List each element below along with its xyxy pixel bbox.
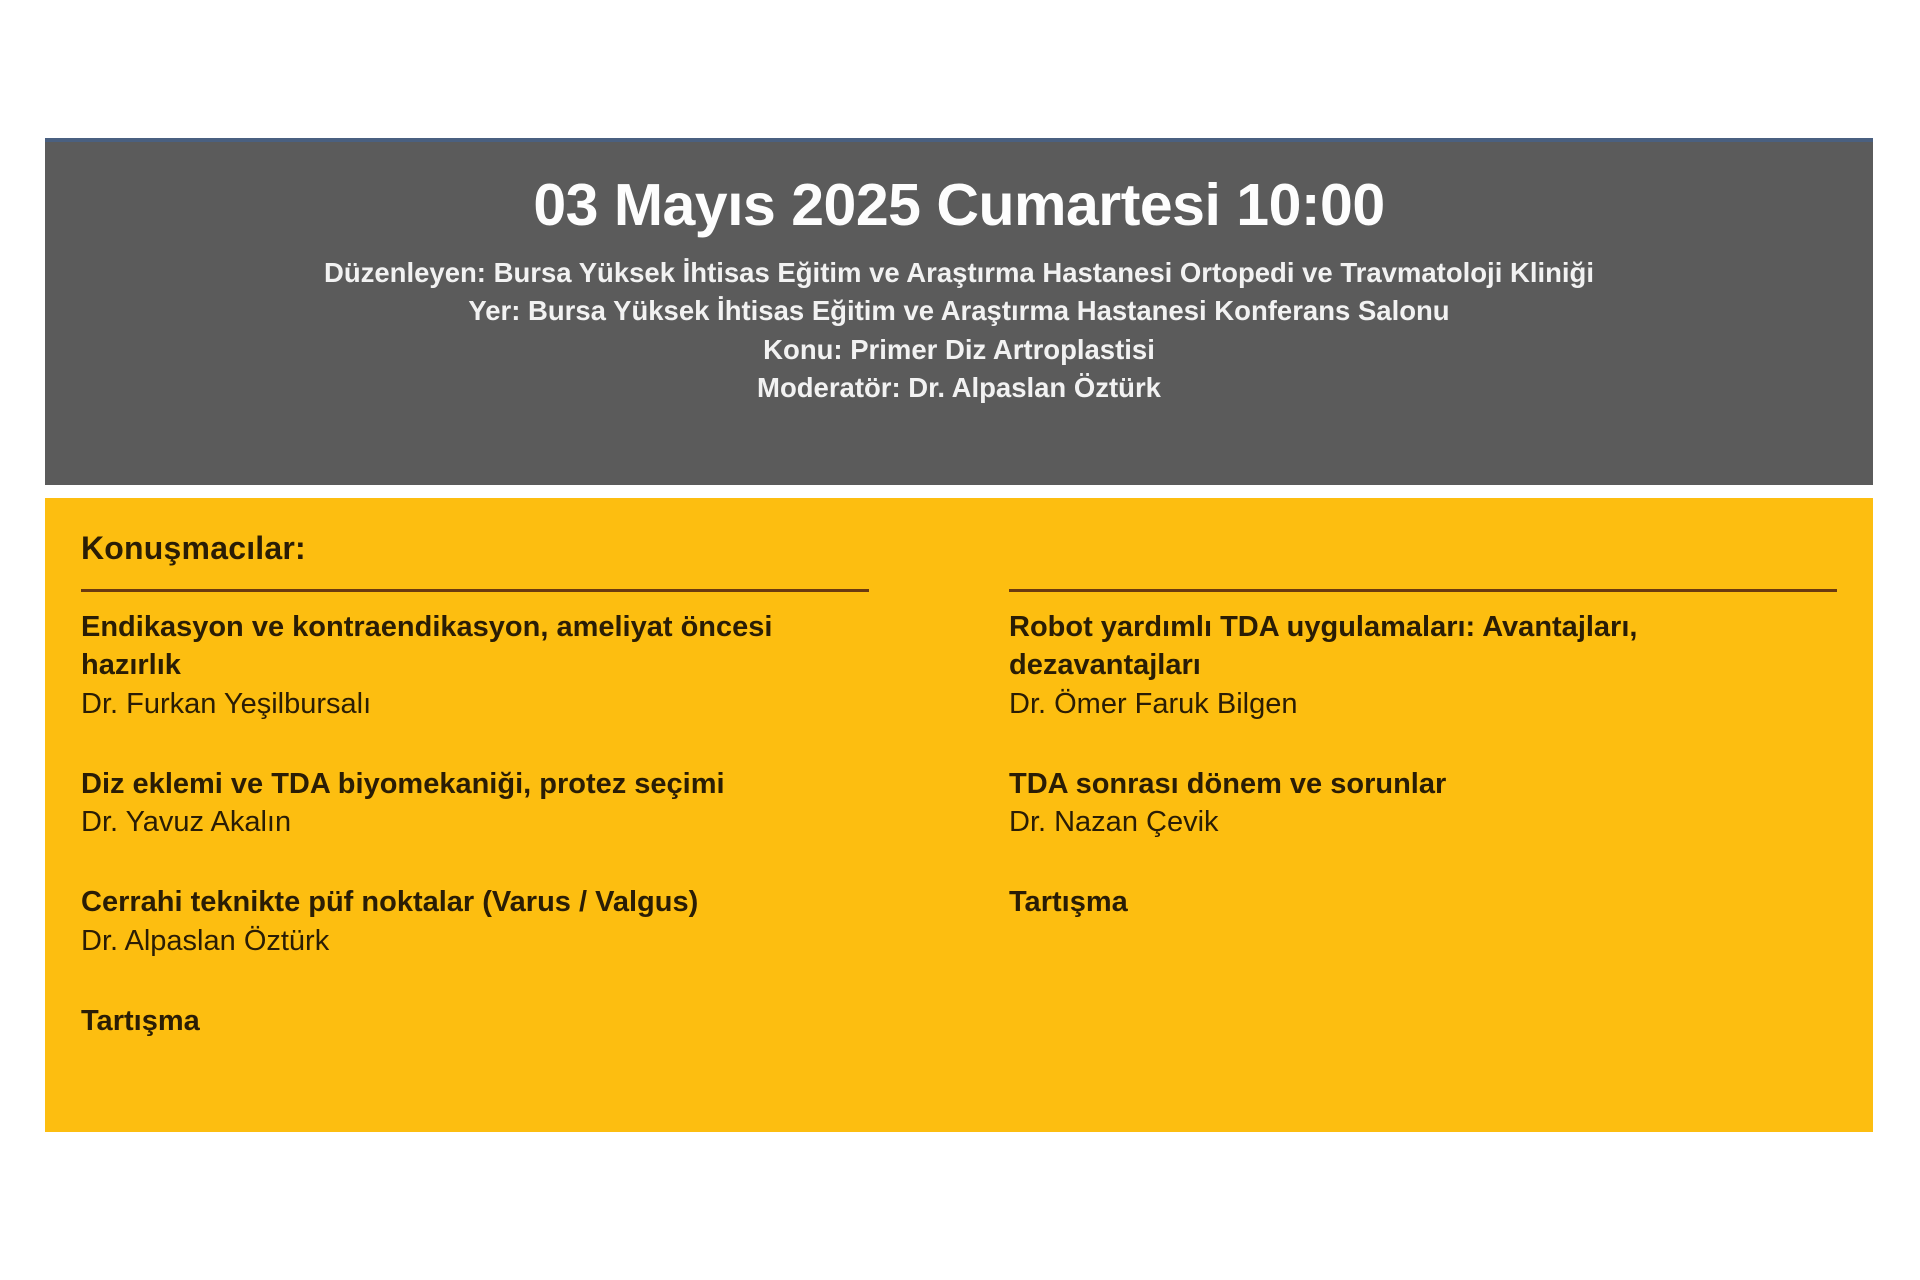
session-title: Diz eklemi ve TDA biyomekaniği, protez s… xyxy=(81,765,869,803)
session-title-discussion: Tartışma xyxy=(81,1002,869,1040)
event-title: 03 Mayıs 2025 Cumartesi 10:00 xyxy=(45,138,1873,238)
session-title: TDA sonrası dönem ve sorunlar xyxy=(1009,765,1837,803)
session-speaker: Dr. Furkan Yeşilbursalı xyxy=(81,685,869,723)
speakers-heading: Konuşmacılar: xyxy=(81,498,1837,567)
session-speaker: Dr. Yavuz Akalın xyxy=(81,803,869,841)
session-item: TDA sonrası dönem ve sorunlar Dr. Nazan … xyxy=(1009,765,1837,842)
session-item: Robot yardımlı TDA uygulamaları: Avantaj… xyxy=(1009,608,1837,723)
speakers-column-left: Endikasyon ve kontraendikasyon, ameliyat… xyxy=(81,589,959,1040)
speakers-panel: Konuşmacılar: Endikasyon ve kontraendika… xyxy=(45,498,1873,1132)
session-item: Tartışma xyxy=(81,1002,869,1040)
session-title: Endikasyon ve kontraendikasyon, ameliyat… xyxy=(81,608,869,685)
speakers-columns: Endikasyon ve kontraendikasyon, ameliyat… xyxy=(81,589,1837,1040)
column-divider-right xyxy=(1009,589,1837,592)
header-panel: 03 Mayıs 2025 Cumartesi 10:00 Düzenleyen… xyxy=(45,138,1873,485)
header-line-moderator: Moderatör: Dr. Alpaslan Öztürk xyxy=(45,369,1873,408)
session-item: Endikasyon ve kontraendikasyon, ameliyat… xyxy=(81,608,869,723)
header-line-organizer: Düzenleyen: Bursa Yüksek İhtisas Eğitim … xyxy=(45,254,1873,293)
session-title-discussion: Tartışma xyxy=(1009,883,1837,921)
session-title: Cerrahi teknikte püf noktalar (Varus / V… xyxy=(81,883,869,921)
session-speaker: Dr. Nazan Çevik xyxy=(1009,803,1837,841)
session-title: Robot yardımlı TDA uygulamaları: Avantaj… xyxy=(1009,608,1837,685)
session-item: Cerrahi teknikte püf noktalar (Varus / V… xyxy=(81,883,869,960)
session-speaker: Dr. Alpaslan Öztürk xyxy=(81,922,869,960)
session-item: Diz eklemi ve TDA biyomekaniği, protez s… xyxy=(81,765,869,842)
header-line-venue: Yer: Bursa Yüksek İhtisas Eğitim ve Araş… xyxy=(45,292,1873,331)
header-line-topic: Konu: Primer Diz Artroplastisi xyxy=(45,331,1873,370)
column-divider-left xyxy=(81,589,869,592)
header-accent-bar xyxy=(45,138,1873,142)
speakers-column-right: Robot yardımlı TDA uygulamaları: Avantaj… xyxy=(959,589,1837,1040)
header-detail-lines: Düzenleyen: Bursa Yüksek İhtisas Eğitim … xyxy=(45,254,1873,408)
session-item: Tartışma xyxy=(1009,883,1837,921)
session-speaker: Dr. Ömer Faruk Bilgen xyxy=(1009,685,1837,723)
event-poster: 03 Mayıs 2025 Cumartesi 10:00 Düzenleyen… xyxy=(0,0,1920,1280)
